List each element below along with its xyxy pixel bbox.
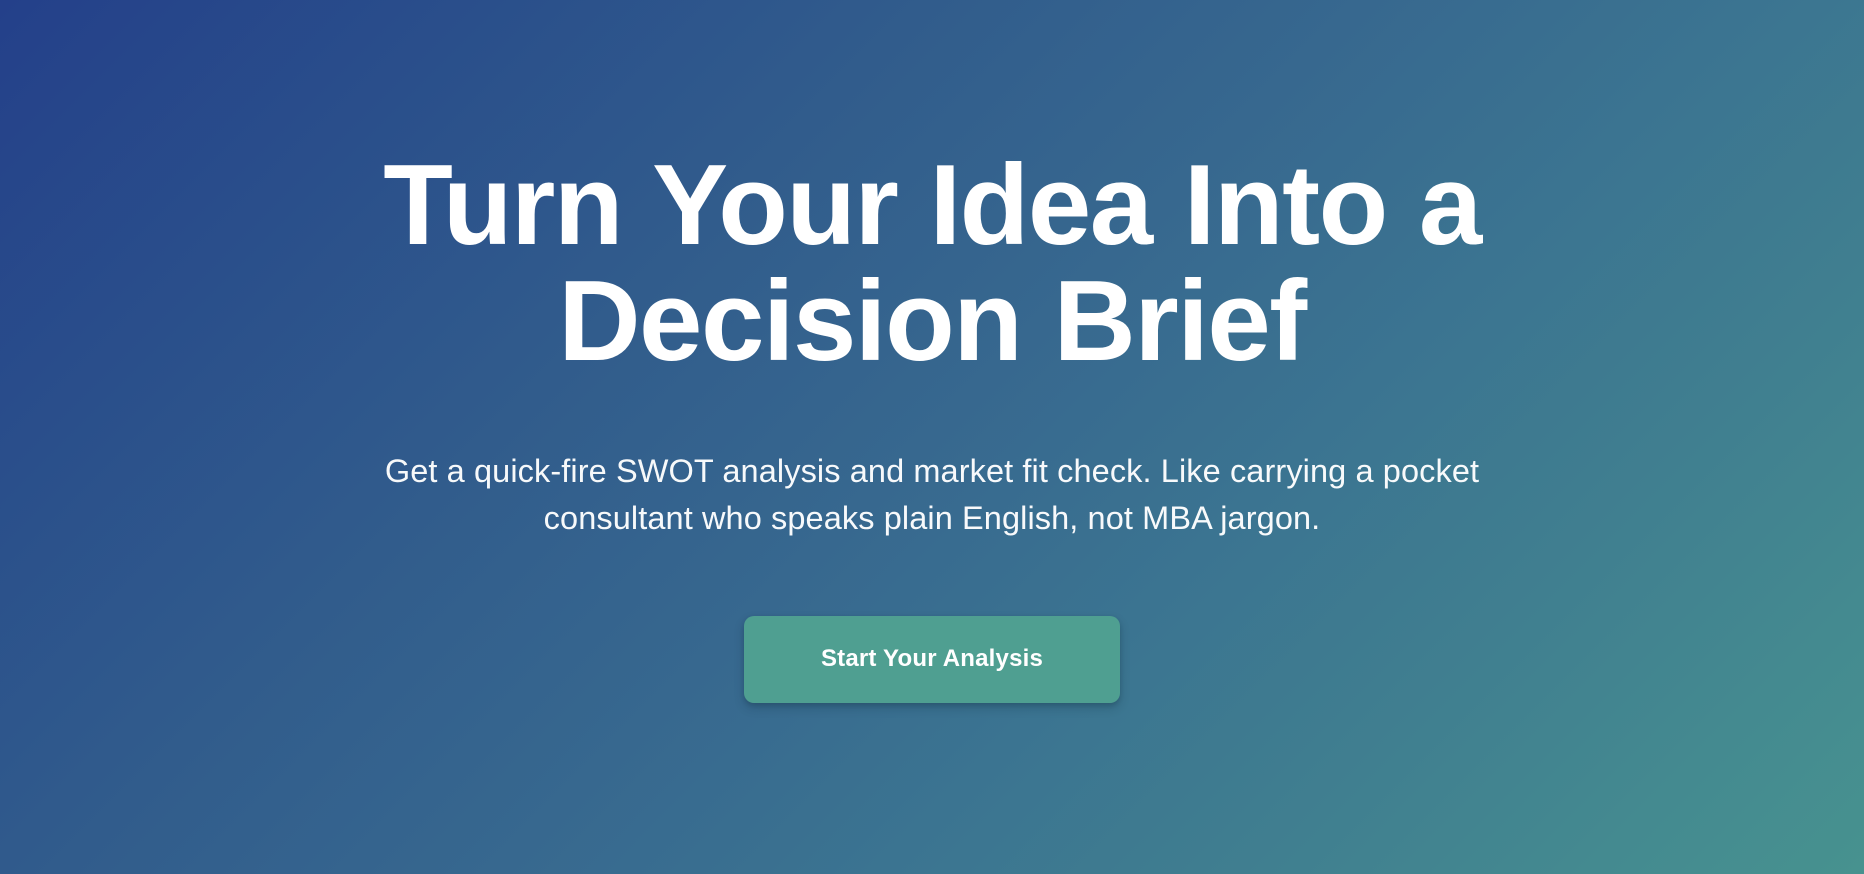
hero-subtitle: Get a quick-fire SWOT analysis and marke… bbox=[372, 448, 1492, 542]
cta-row: Start Your Analysis bbox=[744, 616, 1120, 703]
hero-content: Turn Your Idea Into a Decision Brief Get… bbox=[282, 148, 1582, 703]
start-analysis-button[interactable]: Start Your Analysis bbox=[744, 616, 1120, 703]
hero-section: Turn Your Idea Into a Decision Brief Get… bbox=[0, 0, 1864, 874]
page-title: Turn Your Idea Into a Decision Brief bbox=[342, 148, 1522, 381]
